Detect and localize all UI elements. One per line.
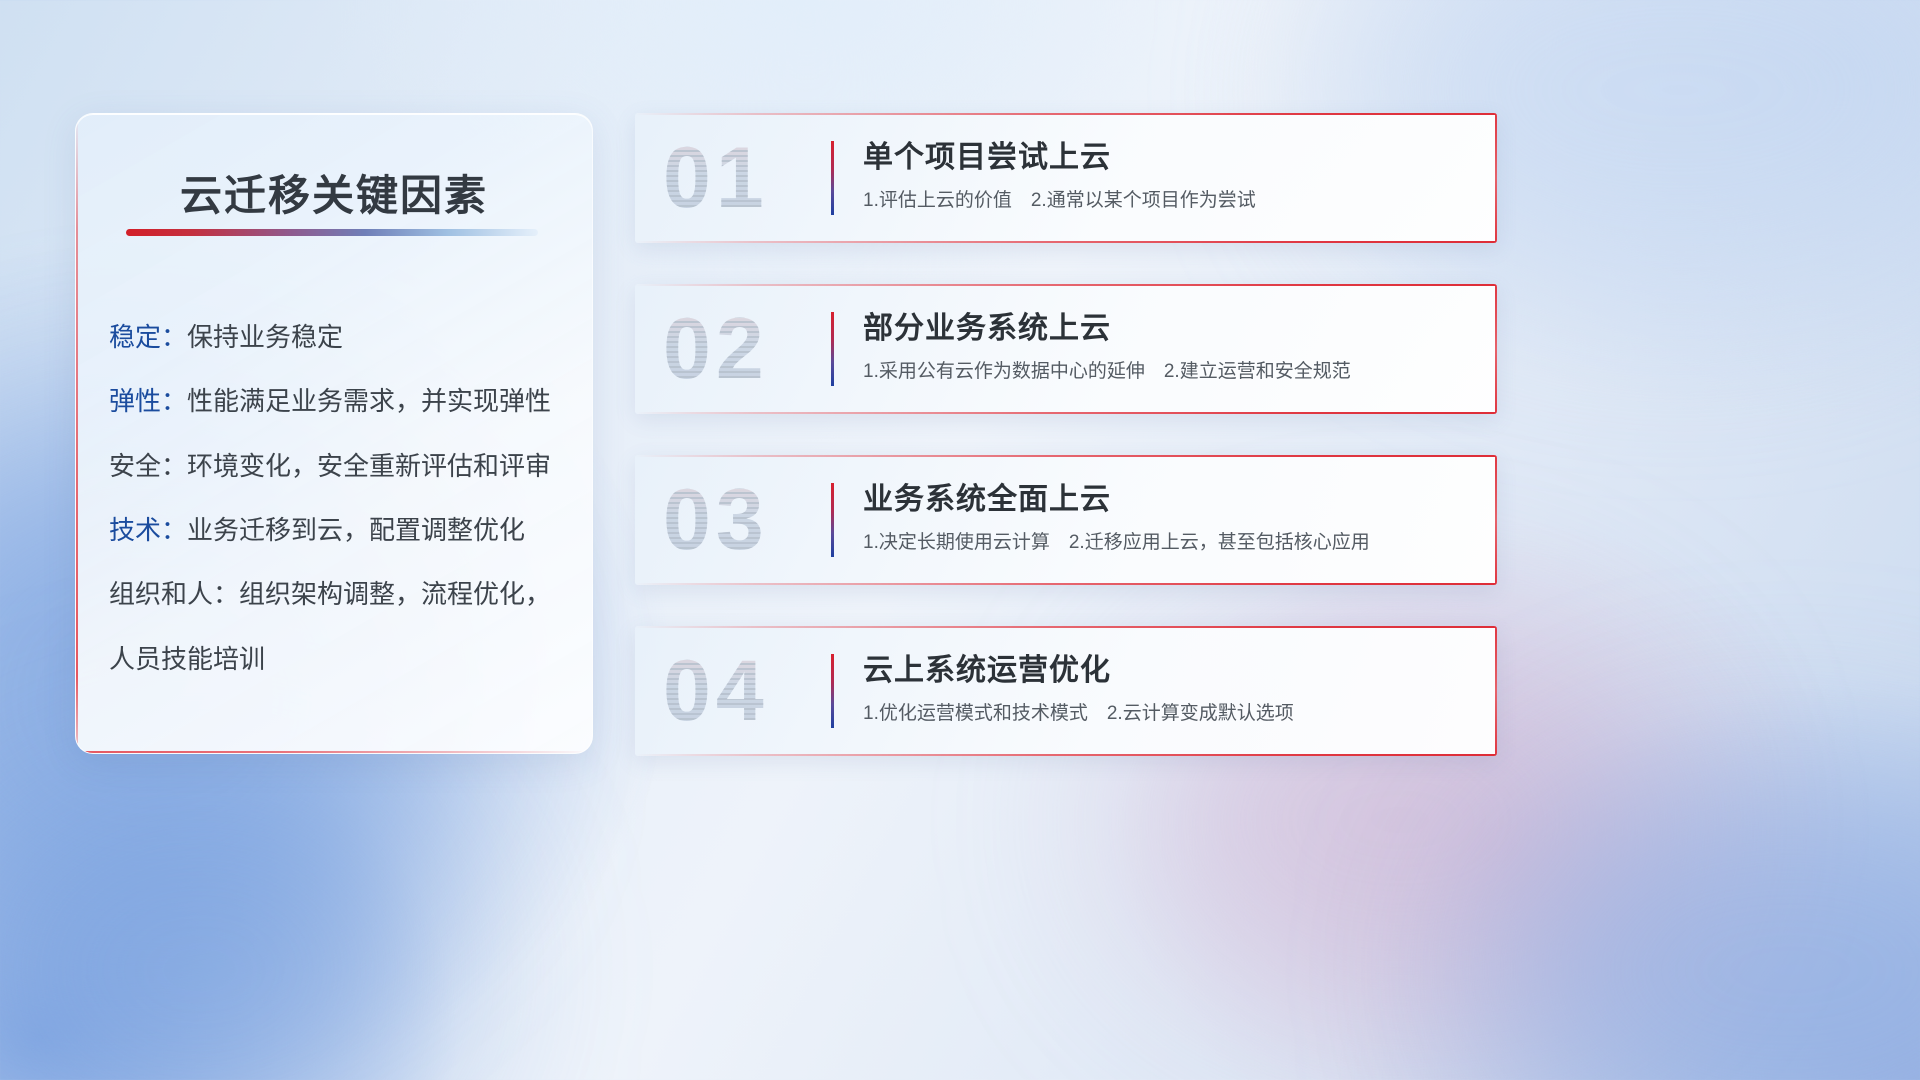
stage-card-03[interactable]: 03 业务系统全面上云 1.决定长期使用云计算 2.迁移应用上云，甚至包括核心应… bbox=[635, 455, 1497, 585]
key-factors-list: 稳定：保持业务稳定 弹性：性能满足业务需求，并实现弹性 安全：环境变化，安全重新… bbox=[109, 320, 568, 677]
stage-card-body: 业务系统全面上云 1.决定长期使用云计算 2.迁移应用上云，甚至包括核心应用 bbox=[863, 482, 1473, 556]
list-item: 安全：环境变化，安全重新评估和评审 bbox=[109, 449, 568, 484]
panel-title: 云迁移关键因素 bbox=[180, 162, 488, 223]
stage-number-watermark: 04 bbox=[663, 648, 769, 734]
stage-divider-bar bbox=[831, 654, 834, 728]
stage-description: 1.决定长期使用云计算 2.迁移应用上云，甚至包括核心应用 bbox=[863, 531, 1473, 556]
list-item-text: 组织架构调整，流程优化， bbox=[239, 579, 551, 609]
list-item-label: 稳定： bbox=[109, 322, 187, 352]
stage-card-body: 部分业务系统上云 1.采用公有云作为数据中心的延伸 2.建立运营和安全规范 bbox=[863, 311, 1473, 385]
stage-card-right-edge bbox=[1495, 455, 1497, 585]
list-item-text: 业务迁移到云，配置调整优化 bbox=[187, 515, 525, 545]
list-item-text: 保持业务稳定 bbox=[187, 322, 343, 352]
list-item-label: 组织和人： bbox=[109, 579, 239, 609]
stage-title: 单个项目尝试上云 bbox=[863, 140, 1473, 176]
stage-card-right-edge bbox=[1495, 113, 1497, 243]
key-factors-panel: 云迁移关键因素 稳定：保持业务稳定 弹性：性能满足业务需求，并实现弹性 安全：环… bbox=[75, 113, 593, 754]
stage-card-body: 单个项目尝试上云 1.评估上云的价值 2.通常以某个项目作为尝试 bbox=[863, 140, 1473, 214]
list-item: 组织和人：组织架构调整，流程优化， bbox=[109, 577, 568, 612]
stage-divider-bar bbox=[831, 312, 834, 386]
list-item-label: 技术： bbox=[109, 515, 187, 545]
stage-divider-bar bbox=[831, 483, 834, 557]
stage-title: 云上系统运营优化 bbox=[863, 653, 1473, 689]
background-glow-bottom-right bbox=[1480, 760, 1920, 1080]
stage-card-right-edge bbox=[1495, 626, 1497, 756]
stage-card-04[interactable]: 04 云上系统运营优化 1.优化运营模式和技术模式 2.云计算变成默认选项 bbox=[635, 626, 1497, 756]
list-item-label: 安全： bbox=[109, 451, 187, 481]
list-item-text: 人员技能培训 bbox=[109, 644, 265, 674]
stage-divider-bar bbox=[831, 141, 834, 215]
stage-title: 业务系统全面上云 bbox=[863, 482, 1473, 518]
stage-number-watermark: 02 bbox=[663, 306, 769, 392]
list-item: 弹性：性能满足业务需求，并实现弹性 bbox=[109, 384, 568, 419]
stage-card-body: 云上系统运营优化 1.优化运营模式和技术模式 2.云计算变成默认选项 bbox=[863, 653, 1473, 727]
list-item: 人员技能培训 bbox=[109, 642, 568, 677]
stage-title: 部分业务系统上云 bbox=[863, 311, 1473, 347]
list-item-text: 环境变化，安全重新评估和评审 bbox=[187, 451, 551, 481]
stage-card-02[interactable]: 02 部分业务系统上云 1.采用公有云作为数据中心的延伸 2.建立运营和安全规范 bbox=[635, 284, 1497, 414]
list-item: 技术：业务迁移到云，配置调整优化 bbox=[109, 513, 568, 548]
stage-card-01[interactable]: 01 单个项目尝试上云 1.评估上云的价值 2.通常以某个项目作为尝试 bbox=[635, 113, 1497, 243]
background-glow-left-lower bbox=[0, 760, 460, 1080]
stage-description: 1.采用公有云作为数据中心的延伸 2.建立运营和安全规范 bbox=[863, 360, 1473, 385]
stage-card-right-edge bbox=[1495, 284, 1497, 414]
stage-description: 1.优化运营模式和技术模式 2.云计算变成默认选项 bbox=[863, 702, 1473, 727]
list-item-text: 性能满足业务需求，并实现弹性 bbox=[187, 386, 551, 416]
title-underline-gradient bbox=[126, 229, 538, 236]
stage-card-list: 01 单个项目尝试上云 1.评估上云的价值 2.通常以某个项目作为尝试 02 部… bbox=[635, 113, 1497, 756]
stage-number-watermark: 01 bbox=[663, 135, 769, 221]
list-item: 稳定：保持业务稳定 bbox=[109, 320, 568, 355]
list-item-label: 弹性： bbox=[109, 386, 187, 416]
stage-description: 1.评估上云的价值 2.通常以某个项目作为尝试 bbox=[863, 189, 1473, 214]
stage-number-watermark: 03 bbox=[663, 477, 769, 563]
